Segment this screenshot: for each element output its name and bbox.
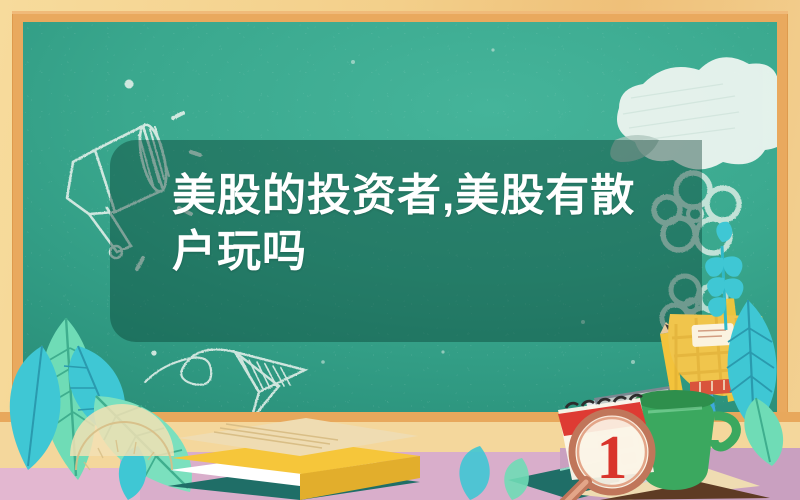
cover-image-canvas: 美股的投资者,美股有散户玩吗 bbox=[0, 0, 800, 500]
page-title: 美股的投资者,美股有散户玩吗 bbox=[172, 168, 648, 280]
frame-highlight bbox=[12, 11, 788, 14]
